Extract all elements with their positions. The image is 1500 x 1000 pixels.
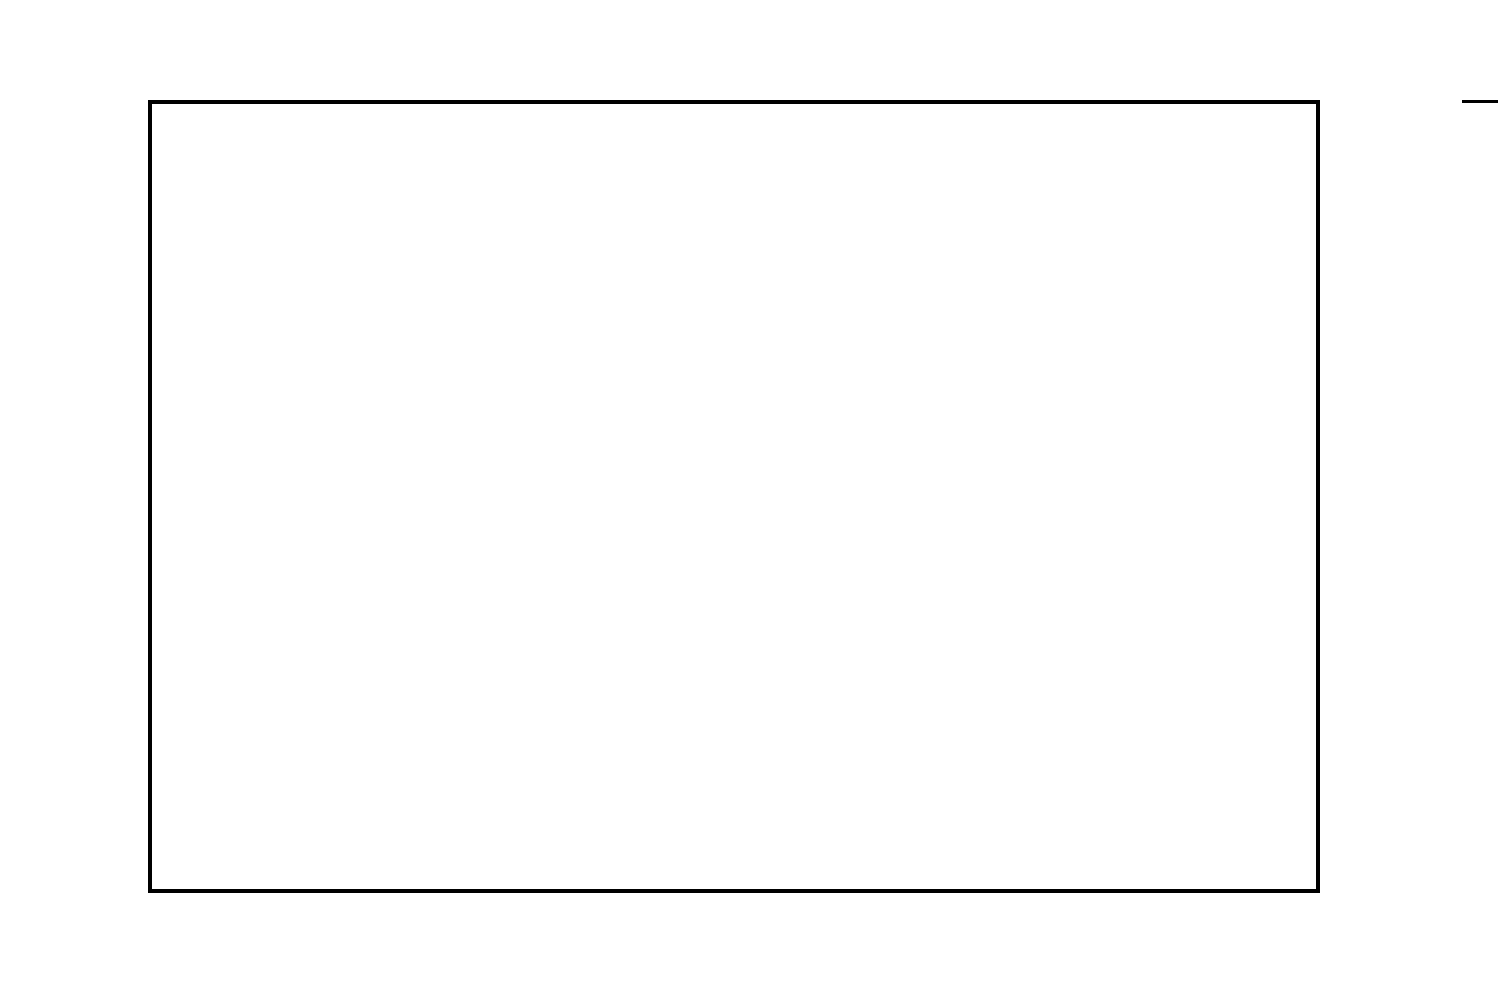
colorbar xyxy=(1462,100,1498,893)
chart-page xyxy=(0,0,1500,1000)
plot-area xyxy=(148,100,1320,893)
colorbar-gradient xyxy=(1462,100,1498,896)
spectrum-plot-canvas xyxy=(152,104,1316,889)
